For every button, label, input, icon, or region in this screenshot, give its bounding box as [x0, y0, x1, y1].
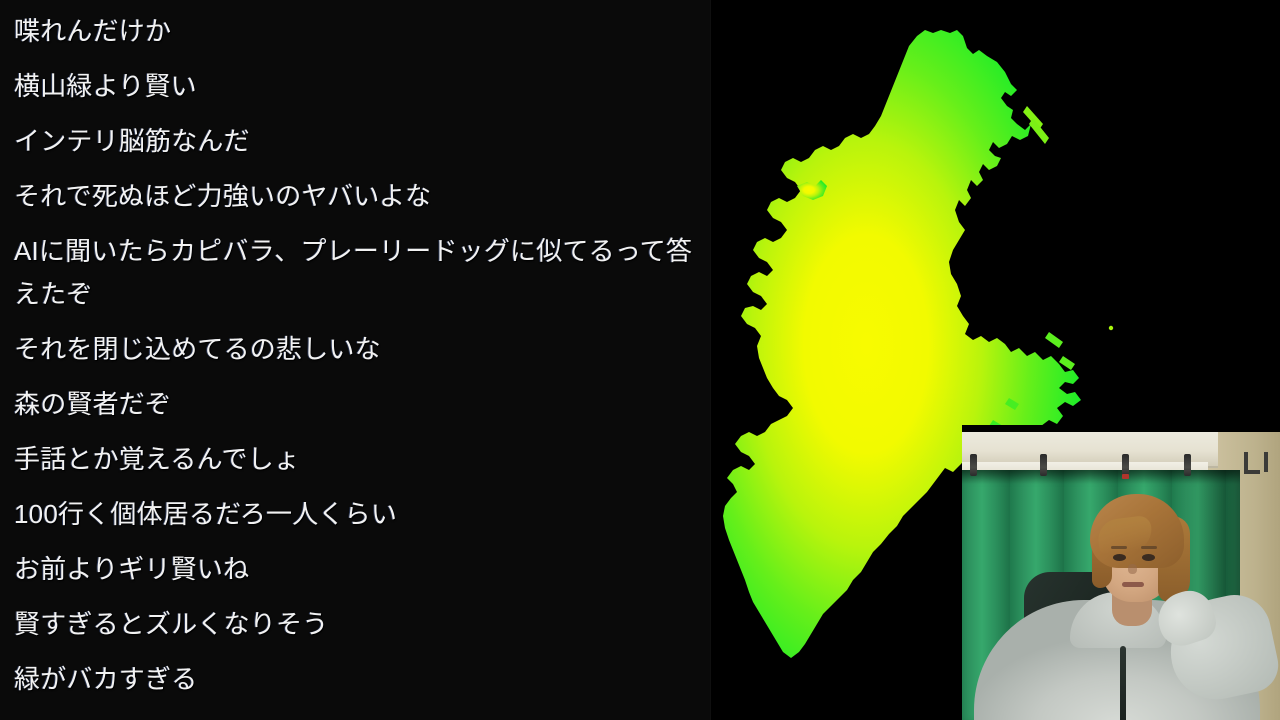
- person-mouth: [1122, 582, 1144, 587]
- comment-item: 手話とか覚えるんでしょ: [0, 432, 711, 487]
- person-eye: [1142, 554, 1155, 561]
- person-eye: [1113, 554, 1126, 561]
- comment-item: 100行く個体居るだろ一人くらい: [0, 487, 711, 542]
- person-eyebrow: [1141, 546, 1157, 549]
- webcam-top-strip: [962, 425, 1280, 432]
- comment-item: 喋れんだけか: [0, 4, 711, 59]
- webcam-overlay[interactable]: [962, 425, 1280, 720]
- comment-item: 横山緑より賢い: [0, 59, 711, 114]
- comment-list: 喋れんだけか 横山緑より賢い インテリ脳筋なんだ それで死ぬほど力強いのヤバいよ…: [0, 4, 711, 707]
- person-eyebrow: [1111, 546, 1127, 549]
- webcam-video-frame: [962, 432, 1280, 720]
- comment-item: それを閉じ込めてるの悲しいな: [0, 322, 711, 377]
- comment-panel: 喋れんだけか 横山緑より賢い インテリ脳筋なんだ それで死ぬほど力強いのヤバいよ…: [0, 0, 711, 720]
- curtain-clip-icon: [1184, 454, 1191, 476]
- person-nose: [1128, 564, 1137, 574]
- curtain-clip-icon: [1122, 454, 1129, 476]
- comment-item: インテリ脳筋なんだ: [0, 114, 711, 169]
- comment-item: AIに聞いたらカピバラ、プレーリードッグに似てるって答えたぞ: [0, 224, 711, 322]
- comment-item: 森の賢者だぞ: [0, 377, 711, 432]
- curtain-clip-icon: [1244, 452, 1268, 472]
- jacket-zipper: [1120, 646, 1126, 720]
- comment-item: お前よりギリ賢いね: [0, 542, 711, 597]
- comment-item: 緑がバカすぎる: [0, 652, 711, 707]
- comment-item: 賢すぎるとズルくなりそう: [0, 597, 711, 652]
- curtain-clip-icon: [970, 454, 977, 476]
- comment-item: それで死ぬほど力強いのヤバいよな: [0, 169, 711, 224]
- curtain-clip-icon: [1040, 454, 1047, 476]
- stream-screen: 喋れんだけか 横山緑より賢い インテリ脳筋なんだ それで死ぬほど力強いのヤバいよ…: [0, 0, 1280, 720]
